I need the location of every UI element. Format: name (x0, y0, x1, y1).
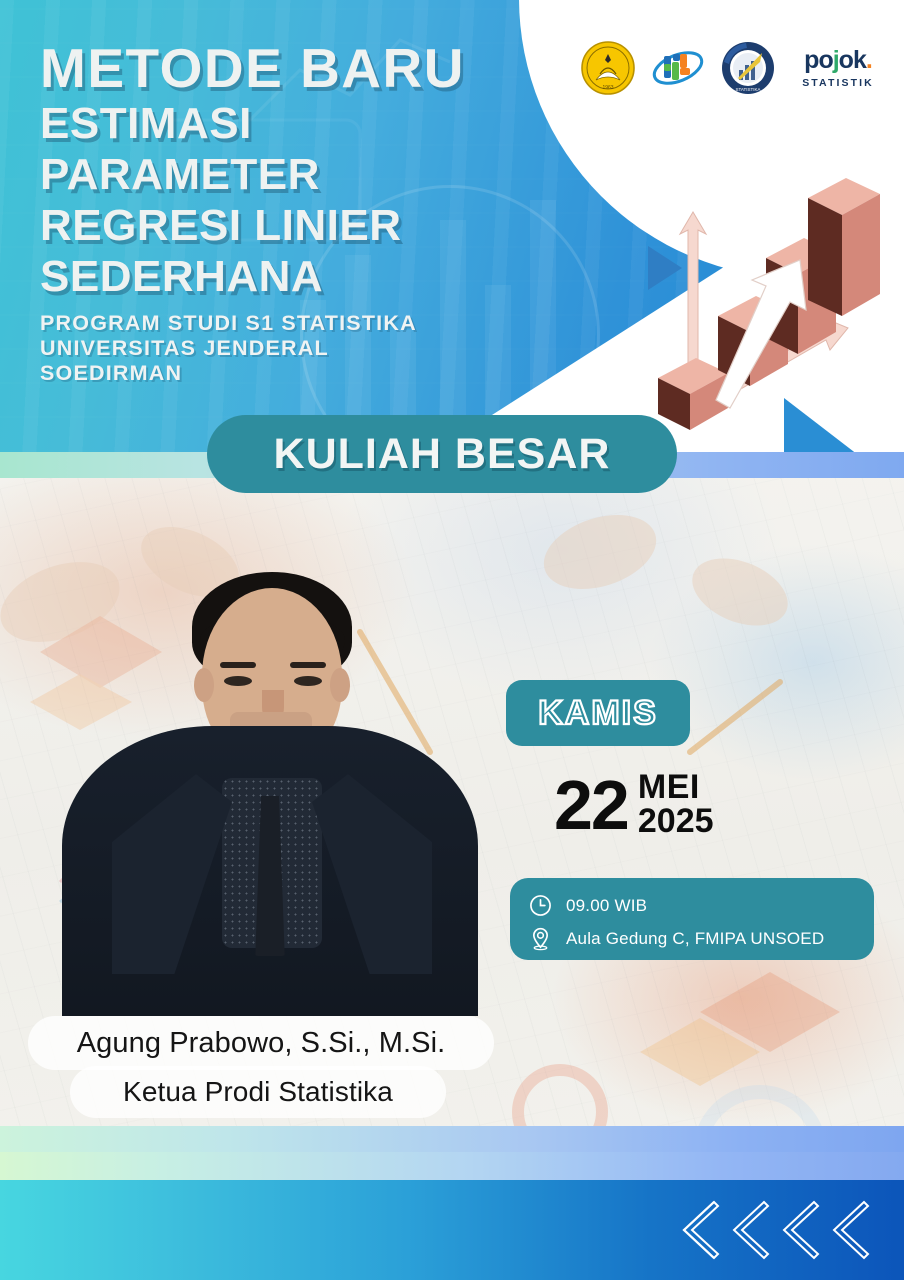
date-year: 2025 (638, 804, 714, 840)
speaker-name: Agung Prabowo, S.Si., M.Si. (77, 1027, 446, 1060)
pojok-subtitle: STATISTIK (802, 77, 874, 89)
chevron-left-icon (826, 1198, 870, 1262)
headline-line-2: PARAMETER (40, 153, 465, 198)
headline-line-3: REGRESI LINIER (40, 204, 465, 249)
chevron-group (676, 1198, 870, 1262)
chevron-left-icon (676, 1198, 720, 1262)
event-poster: 1963 (0, 0, 904, 1280)
clock-icon (528, 893, 553, 918)
footer-thin-band (0, 1152, 904, 1180)
date-month-year: MEI 2025 (638, 770, 714, 840)
date-block: 22 MEI 2025 (554, 770, 714, 840)
poster-footer (0, 1180, 904, 1280)
speaker-name-pill: Agung Prabowo, S.Si., M.Si. (28, 1016, 494, 1070)
speaker-ear-right (330, 668, 350, 702)
date-month: MEI (638, 770, 714, 804)
speaker-brow-right (290, 662, 326, 668)
headline-main: METODE BARU (40, 42, 465, 96)
unsoed-logo: 1963 (580, 40, 636, 96)
headline-line-4: SEDERHANA (40, 255, 465, 300)
event-type-label: KULIAH BESAR (274, 430, 611, 479)
event-type-banner: KULIAH BESAR (207, 415, 677, 493)
svg-text:STATISTIKA: STATISTIKA (735, 87, 760, 92)
day-badge: KAMIS (506, 680, 690, 746)
speaker-eye-left (224, 676, 252, 686)
time-text: 09.00 WIB (566, 896, 647, 916)
speaker-eye-right (294, 676, 322, 686)
pojok-statistik-logo: pojok. STATISTIK (790, 42, 886, 94)
poster-header: 1963 (0, 0, 904, 452)
speaker-title: Ketua Prodi Statistika (123, 1076, 393, 1108)
date-day: 22 (554, 775, 628, 835)
logo-row: 1963 (580, 40, 886, 96)
isometric-bar-chart-icon (648, 168, 898, 430)
svg-text:1963: 1963 (602, 85, 613, 91)
himasta-logo: STATISTIKA (720, 40, 776, 96)
org-line-3: SOEDIRMAN (40, 361, 465, 386)
pojok-green-o: j (833, 46, 839, 74)
venue-row: Aula Gedung C, FMIPA UNSOED (528, 922, 874, 955)
pojok-wordmark: pojok. (804, 48, 872, 73)
location-pin-icon (528, 926, 553, 951)
event-details-card: 09.00 WIB Aula Gedung C, FMIPA UNSOED (510, 878, 874, 960)
bps-logo (650, 40, 706, 96)
headline-block: METODE BARU ESTIMASI PARAMETER REGRESI L… (40, 42, 465, 386)
chevron-left-icon (776, 1198, 820, 1262)
speaker-title-pill: Ketua Prodi Statistika (70, 1066, 446, 1118)
speaker-ear-left (194, 668, 214, 702)
speaker-brow-left (220, 662, 256, 668)
headline-line-1: ESTIMASI (40, 102, 465, 147)
venue-text: Aula Gedung C, FMIPA UNSOED (566, 929, 824, 949)
time-row: 09.00 WIB (528, 889, 874, 922)
org-line-1: PROGRAM STUDI S1 STATISTIKA (40, 311, 465, 336)
mid-bottom-gradient-band (0, 1126, 904, 1152)
chevron-left-icon (726, 1198, 770, 1262)
speaker-photo (62, 560, 478, 1016)
org-line-2: UNIVERSITAS JENDERAL (40, 336, 465, 361)
day-label: KAMIS (538, 694, 658, 733)
